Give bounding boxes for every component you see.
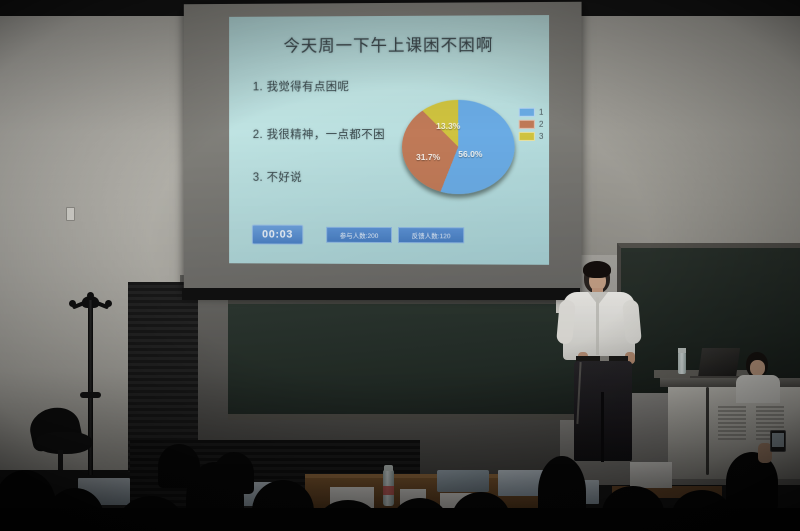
technician-body: [736, 375, 780, 403]
podium-vent-left: [718, 406, 746, 440]
pie-slices: [402, 100, 515, 195]
pie-chart: 56.0% 31.7% 13.3%: [396, 94, 521, 203]
technician-face: [750, 360, 765, 376]
pie-label-2: 31.7%: [416, 152, 440, 162]
legend-label-1: 1: [539, 108, 544, 117]
poll-option-2: 2. 我很精神，一点都不困: [253, 126, 385, 142]
presenter-shirt-placket: [596, 297, 599, 355]
podium-bottle: [678, 352, 686, 374]
desk-laptop: [437, 470, 489, 492]
water-bottle-label: [383, 486, 394, 495]
pie-label-1: 56.0%: [458, 149, 482, 159]
student-head-13: [158, 444, 200, 488]
side-desk-box: [630, 462, 672, 488]
poll-option-3: 3. 不好说: [253, 169, 302, 185]
legend-swatch-1: [519, 108, 535, 117]
student-head-14: [214, 452, 254, 494]
projection-screen: 今天周一下午上课困不困啊 1. 我觉得有点困呢 2. 我很精神，一点都不困 3.…: [184, 2, 582, 298]
legend-swatch-2: [519, 120, 535, 129]
pie-label-3: 13.3%: [436, 121, 460, 131]
legend-item-2: 2: [519, 120, 549, 129]
presenter-hair: [583, 261, 611, 278]
office-chair-stem: [58, 450, 63, 476]
coat-hook-mid: [87, 292, 94, 299]
office-chair-seat: [36, 432, 92, 454]
presentation-slide: 今天周一下午上课困不困啊 1. 我觉得有点困呢 2. 我很精神，一点都不困 3.…: [229, 15, 549, 265]
legend-item-1: 1: [519, 108, 549, 117]
legend-label-2: 2: [539, 120, 544, 129]
chalkboard-ledge: [228, 414, 623, 420]
countdown-timer: 00:03: [252, 225, 304, 245]
classroom-photo: 今天周一下午上课困不困啊 1. 我觉得有点困呢 2. 我很精神，一点都不困 3.…: [0, 0, 800, 531]
water-bottle-cap: [384, 465, 393, 471]
podium-cable: [706, 387, 709, 475]
wall-switch-icon: [66, 207, 75, 221]
foreground-shadow: [0, 508, 800, 531]
smartphone-screen: [772, 433, 784, 447]
poll-option-1: 1. 我觉得有点困呢: [253, 78, 350, 94]
chart-legend: 1 2 3: [519, 108, 549, 144]
responses-badge: 反馈人数:120: [398, 227, 464, 243]
podium-bottle-cap: [678, 348, 686, 353]
coat-hook-left: [69, 300, 76, 307]
presenter-trouser-seam: [601, 392, 604, 462]
coat-hook-right: [105, 300, 112, 307]
coat-rack-ring: [80, 392, 101, 398]
legend-swatch-3: [519, 132, 535, 141]
participants-badge: 参与人数:200: [326, 227, 392, 243]
page-title: 今天周一下午上课困不困啊: [229, 31, 549, 56]
screen-bottom-bar: [182, 288, 580, 300]
podium-laptop-lid: [698, 348, 740, 378]
legend-item-3: 3: [519, 132, 549, 141]
legend-label-3: 3: [539, 132, 544, 141]
